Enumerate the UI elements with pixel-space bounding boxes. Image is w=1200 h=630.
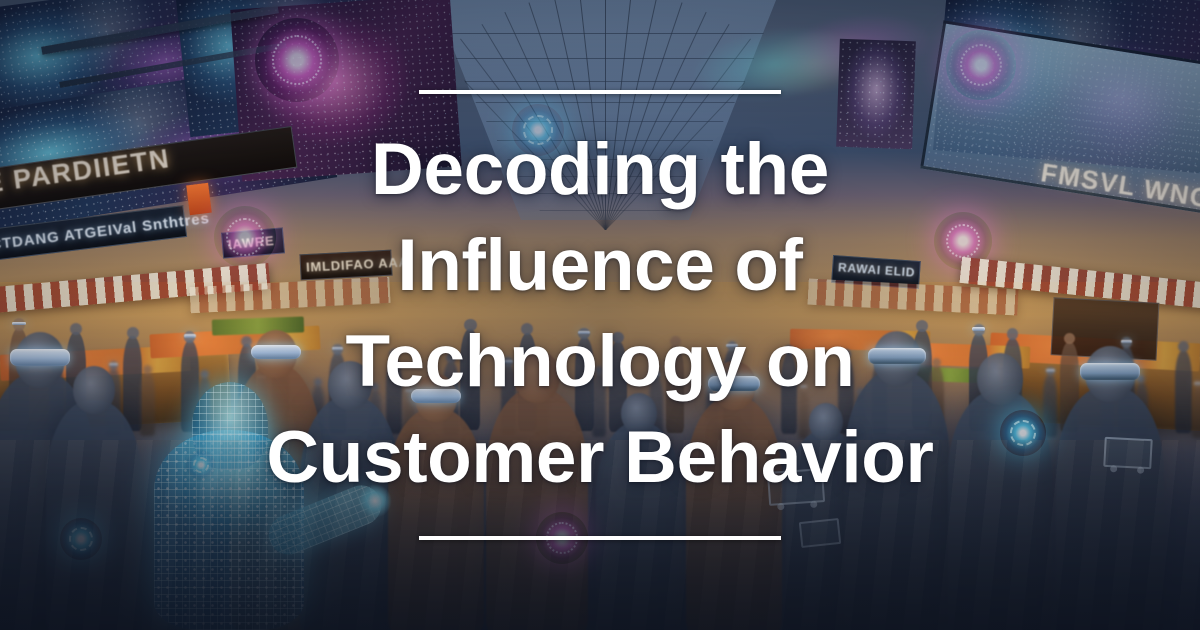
title-rule-bottom: [419, 536, 781, 540]
headline-line-1: Decoding the: [371, 129, 829, 210]
headline-line-2: Influence of: [397, 225, 802, 306]
headline-line-3: Technology on: [346, 321, 855, 402]
title-block: Decoding the Influence of Technology on …: [0, 0, 1200, 630]
poster-canvas: E PARDIIETN ACTDANG ATGEIVal Snthtres IA…: [0, 0, 1200, 630]
title-rule-top: [419, 90, 781, 94]
headline-line-4: Customer Behavior: [266, 417, 933, 498]
page-title: Decoding the Influence of Technology on …: [266, 122, 933, 506]
